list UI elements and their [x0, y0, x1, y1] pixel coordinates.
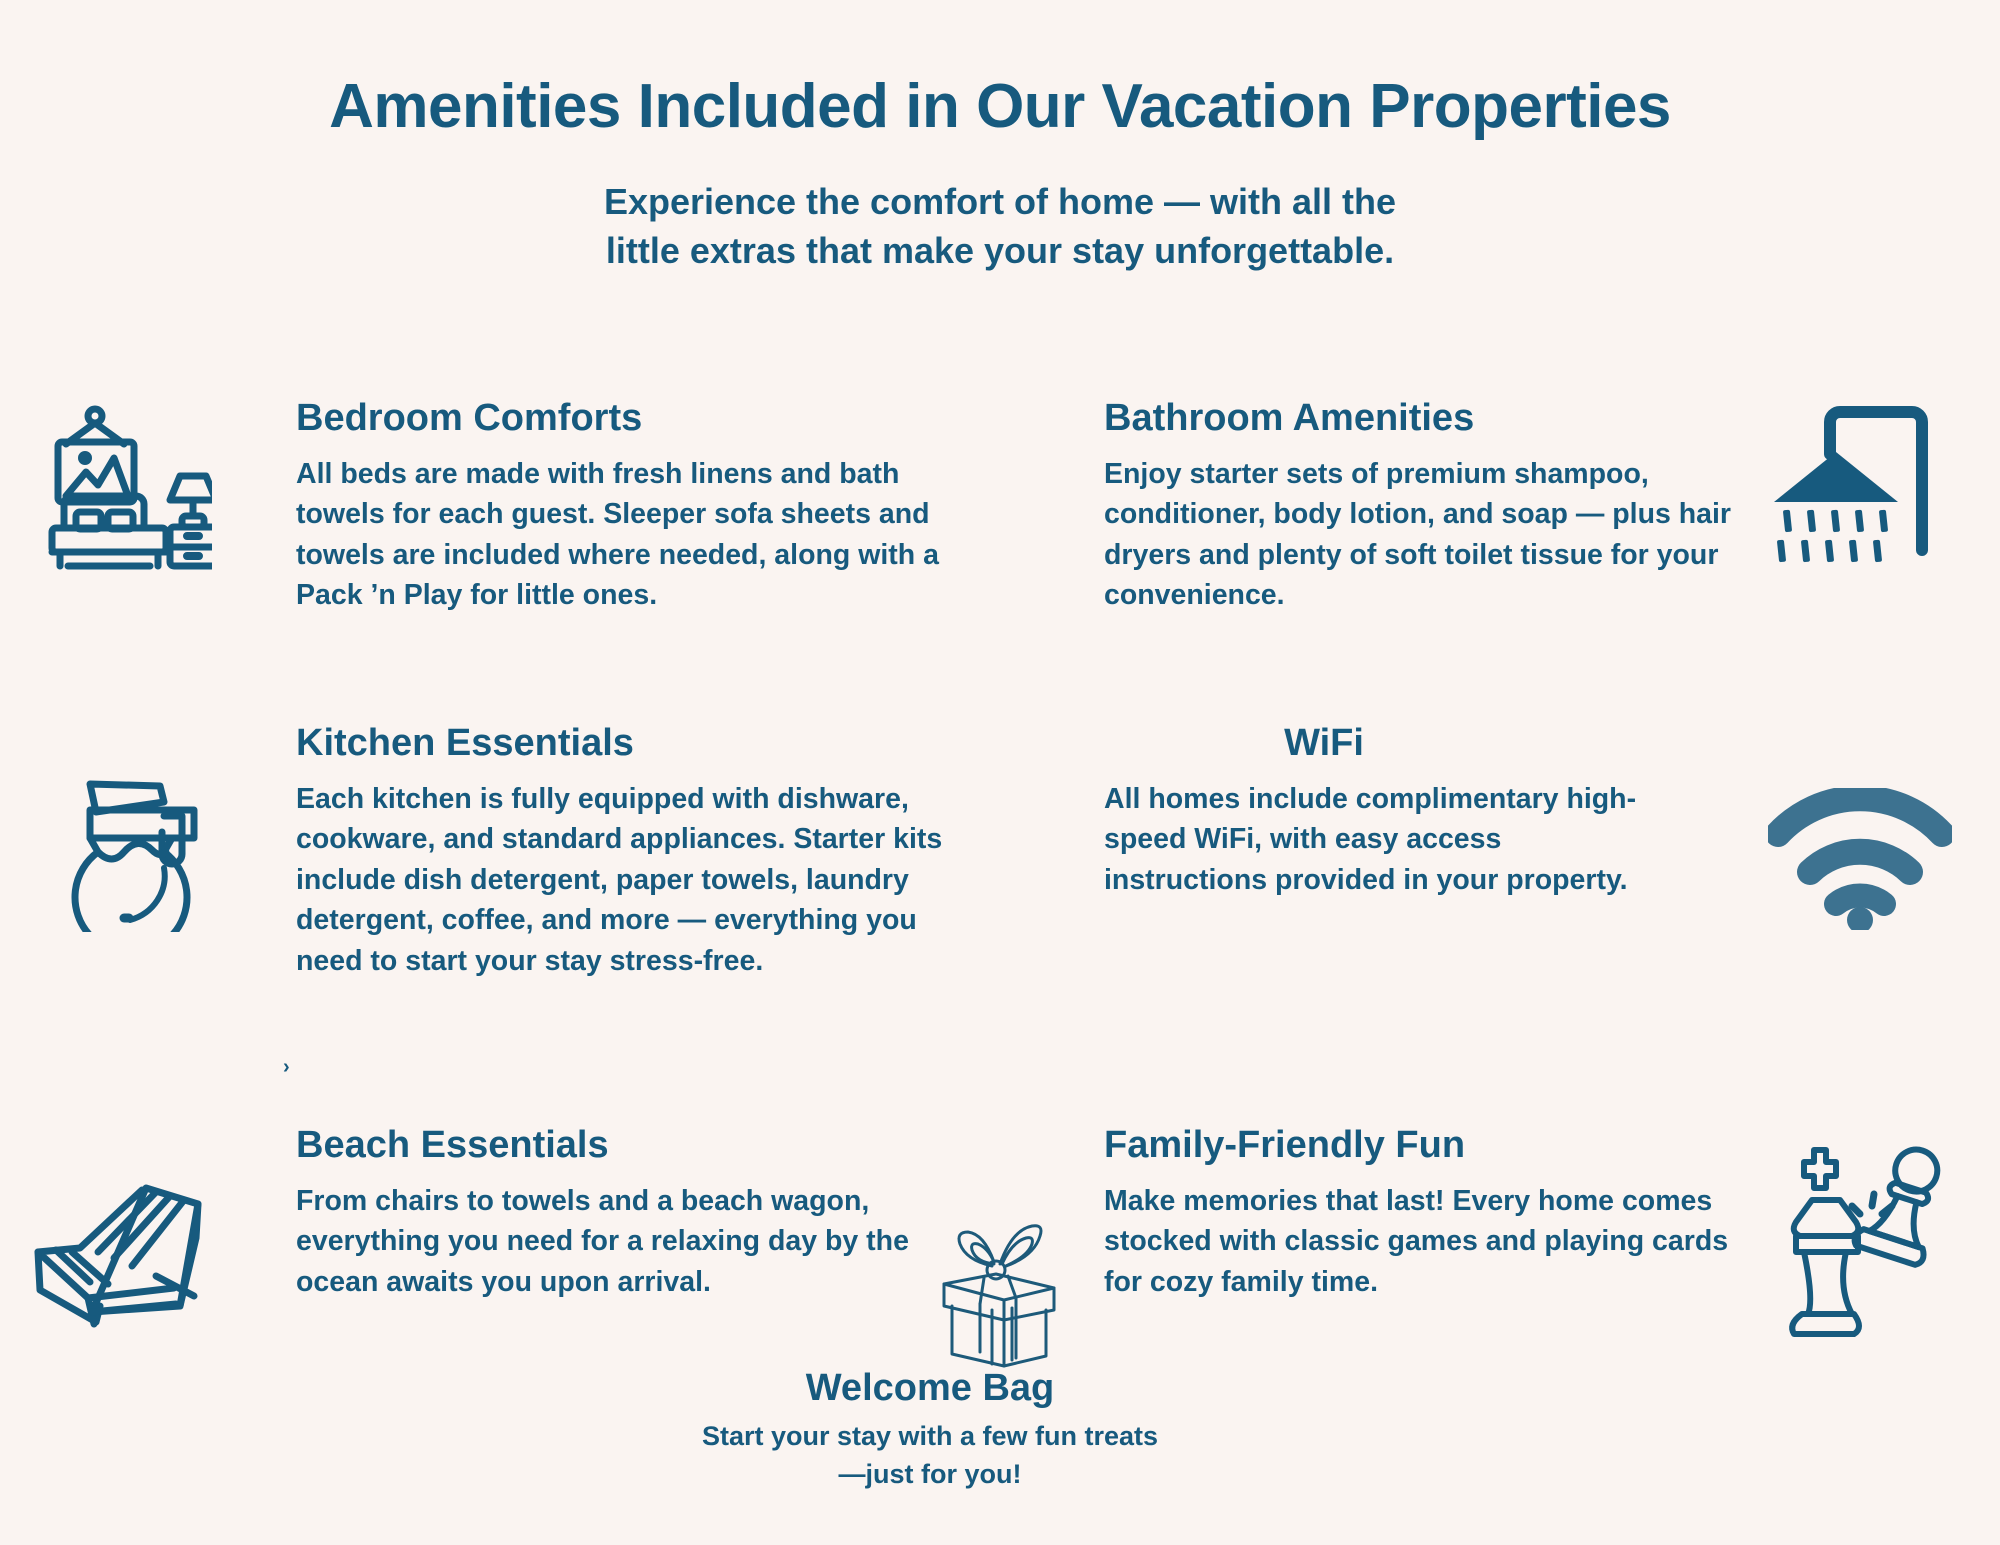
infographic-page: Amenities Included in Our Vacation Prope… — [0, 0, 2000, 1545]
section-body-bathroom-amenities: Enjoy starter sets of premium shampoo, c… — [1104, 454, 1754, 616]
section-title-kitchen-essentials: Kitchen Essentials — [296, 723, 956, 765]
gift-box-icon — [920, 1218, 1080, 1368]
section-title-welcome-bag: Welcome Bag — [700, 1368, 1160, 1410]
section-body-wifi: All homes include complimentary high-spe… — [1104, 779, 1664, 900]
subtitle-line-1: Experience the comfort of home — with al… — [0, 178, 2000, 227]
beach-chair-icon — [28, 1178, 228, 1338]
section-body-bedroom-comforts: All beds are made with fresh linens and … — [296, 454, 956, 616]
shower-icon — [1768, 398, 1936, 568]
section-bathroom-amenities: Bathroom Amenities Enjoy starter sets of… — [1104, 398, 1754, 616]
section-body-kitchen-essentials: Each kitchen is fully equipped with dish… — [296, 779, 956, 981]
coffee-pot-icon — [68, 772, 228, 932]
chess-pieces-icon — [1762, 1138, 1952, 1338]
wifi-icon — [1768, 788, 1952, 930]
section-title-beach-essentials: Beach Essentials — [296, 1125, 956, 1167]
page-subtitle: Experience the comfort of home — with al… — [0, 178, 2000, 275]
section-bedroom-comforts: Bedroom Comforts All beds are made with … — [296, 398, 956, 616]
bedroom-icon — [42, 400, 212, 570]
section-title-family-friendly-fun: Family-Friendly Fun — [1104, 1125, 1754, 1167]
section-kitchen-essentials: Kitchen Essentials Each kitchen is fully… — [296, 723, 956, 981]
stray-glyph-artifact: › — [283, 1057, 290, 1077]
section-title-wifi: WiFi — [1104, 723, 1664, 765]
section-body-welcome-bag: Start your stay with a few fun treats—ju… — [700, 1418, 1160, 1494]
section-body-family-friendly-fun: Make memories that last! Every home come… — [1104, 1181, 1754, 1302]
section-title-bathroom-amenities: Bathroom Amenities — [1104, 398, 1754, 440]
section-welcome-bag: Welcome Bag Start your stay with a few f… — [700, 1368, 1160, 1493]
section-body-beach-essentials: From chairs to towels and a beach wagon,… — [296, 1181, 956, 1302]
section-wifi: WiFi All homes include complimentary hig… — [1104, 723, 1664, 900]
subtitle-line-2: little extras that make your stay unforg… — [0, 227, 2000, 276]
section-beach-essentials: Beach Essentials From chairs to towels a… — [296, 1125, 956, 1302]
section-title-bedroom-comforts: Bedroom Comforts — [296, 398, 956, 440]
page-title: Amenities Included in Our Vacation Prope… — [0, 72, 2000, 141]
section-family-friendly-fun: Family-Friendly Fun Make memories that l… — [1104, 1125, 1754, 1302]
